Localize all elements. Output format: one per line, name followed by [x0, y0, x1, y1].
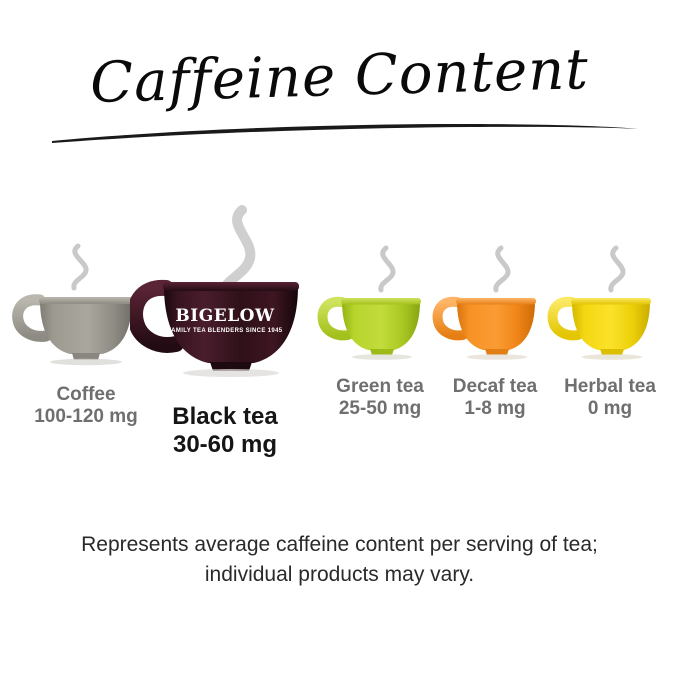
- herbal-tea-cup-icon: [546, 240, 674, 370]
- cup-name-decaf-tea: Decaf tea: [431, 376, 559, 398]
- cups-row: Coffee 100-120 mg: [0, 196, 679, 486]
- page-title-text: Caffeine Content: [0, 39, 679, 117]
- page-title: Caffeine Content: [0, 48, 679, 107]
- footnote: Represents average caffeine content per …: [40, 530, 640, 591]
- cup-amount-herbal-tea: 0 mg: [546, 398, 674, 420]
- steam-icon: [74, 246, 86, 288]
- steam-icon: [611, 248, 623, 290]
- steam-icon: [496, 248, 508, 290]
- cup-labels-decaf-tea: Decaf tea 1-8 mg: [431, 376, 559, 421]
- cup-item-black-tea[interactable]: BIGELOW FAMILY TEA BLENDERS SINCE 1945 B…: [130, 196, 320, 460]
- cup-labels-black-tea: Black tea 30-60 mg: [130, 403, 320, 460]
- footnote-line-1: Represents average caffeine content per …: [40, 530, 640, 560]
- cup-name-green-tea: Green tea: [316, 376, 444, 398]
- cup-amount-green-tea: 25-50 mg: [316, 398, 444, 420]
- cup-labels-green-tea: Green tea 25-50 mg: [316, 376, 444, 421]
- green-tea-cup-icon: [316, 240, 444, 370]
- cup-amount-decaf-tea: 1-8 mg: [431, 398, 559, 420]
- cup-labels-herbal-tea: Herbal tea 0 mg: [546, 376, 674, 421]
- cup-art-herbal-tea: [546, 240, 674, 370]
- decaf-tea-cup-icon: [431, 240, 559, 370]
- cup-name-black-tea: Black tea: [130, 403, 320, 431]
- cup-art-decaf-tea: [431, 240, 559, 370]
- cup-item-herbal-tea[interactable]: Herbal tea 0 mg: [546, 240, 674, 421]
- footnote-line-2: individual products may vary.: [40, 560, 640, 590]
- swoosh-underline-icon: [0, 116, 679, 150]
- caffeine-content-infographic: Caffeine Content: [0, 0, 679, 679]
- cup-art-black-tea: BIGELOW FAMILY TEA BLENDERS SINCE 1945: [130, 196, 320, 391]
- cup-amount-black-tea: 30-60 mg: [130, 431, 320, 459]
- steam-icon: [381, 248, 393, 290]
- cup-art-green-tea: [316, 240, 444, 370]
- black-tea-cup-icon: [130, 196, 320, 391]
- cup-name-herbal-tea: Herbal tea: [546, 376, 674, 398]
- cup-item-green-tea[interactable]: Green tea 25-50 mg: [316, 240, 444, 421]
- cup-item-decaf-tea[interactable]: Decaf tea 1-8 mg: [431, 240, 559, 421]
